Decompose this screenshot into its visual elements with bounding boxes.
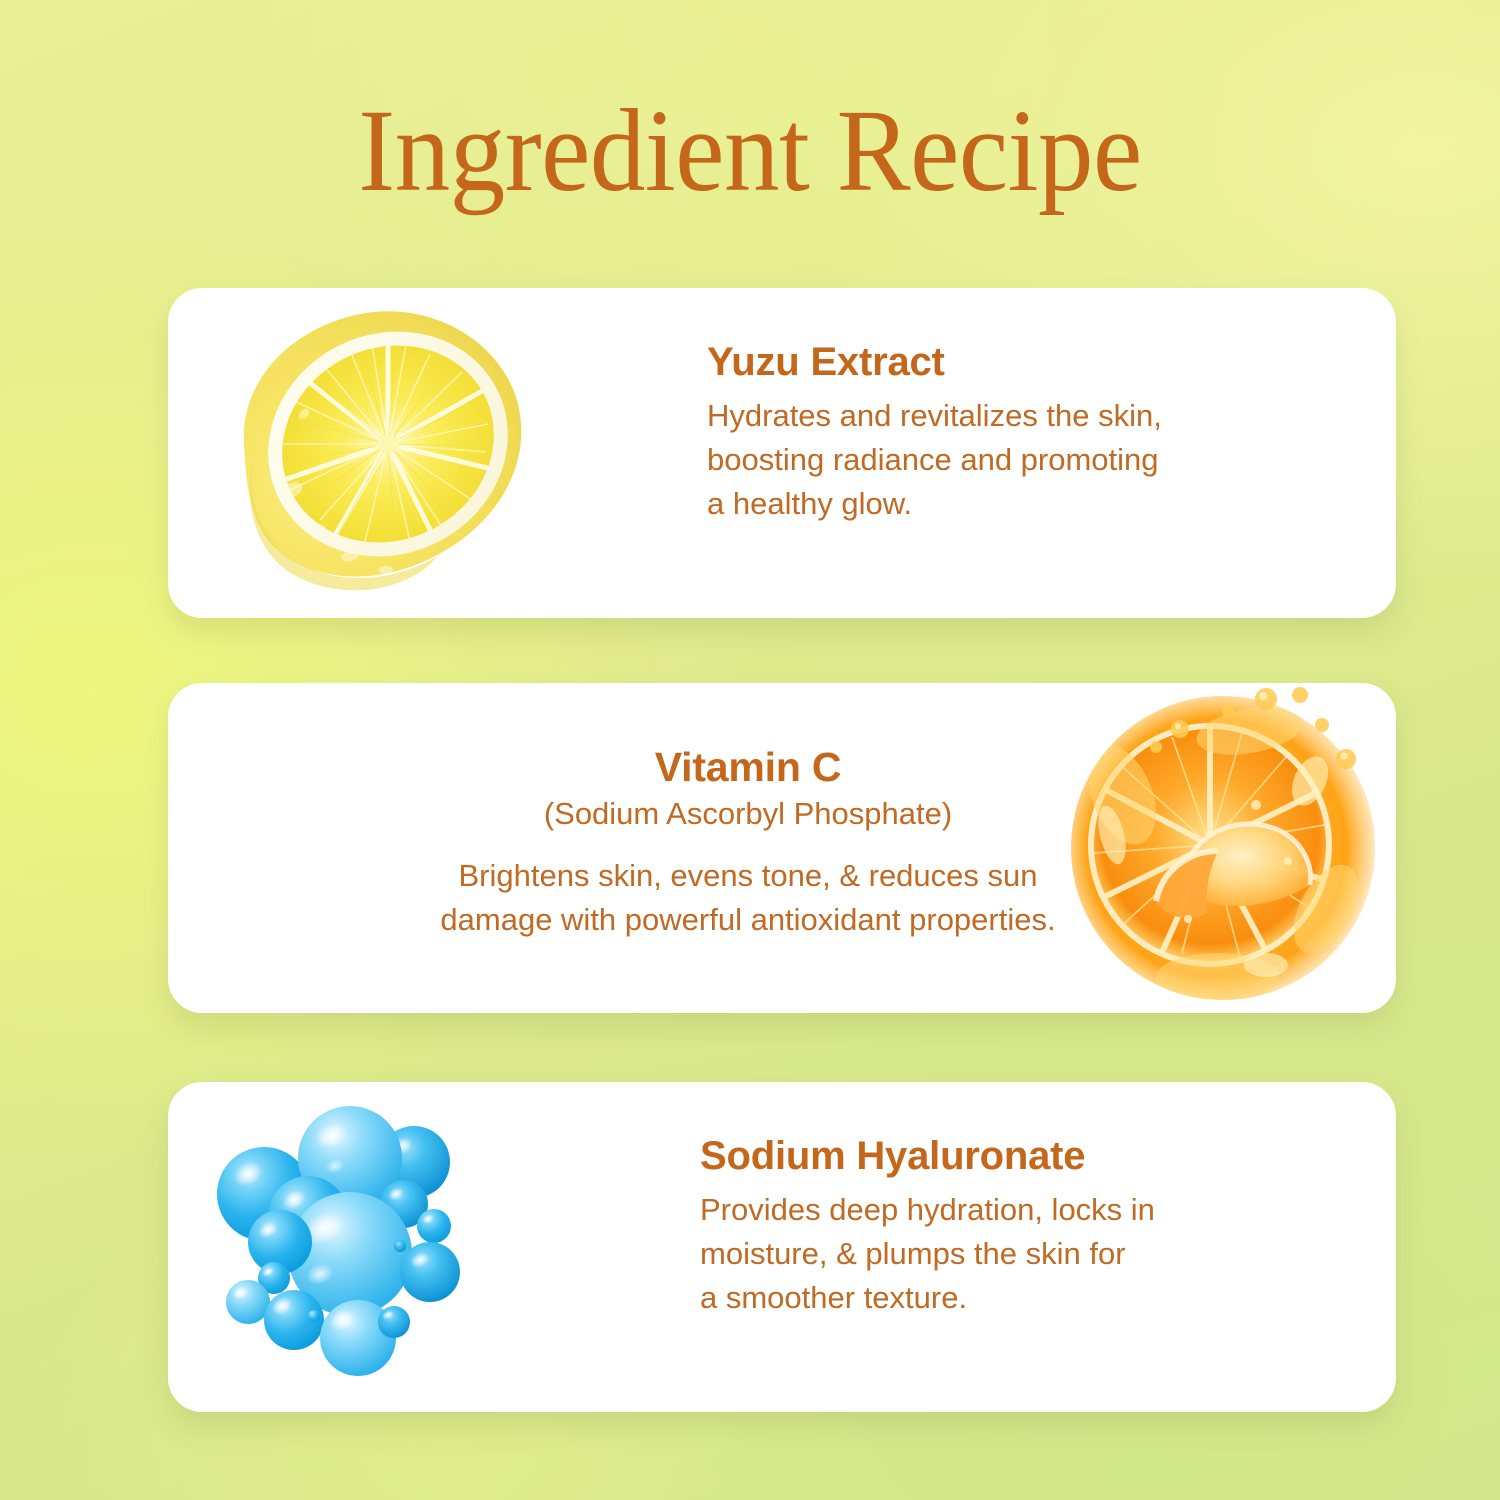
ingredient-card-vitaminc: Vitamin C (Sodium Ascorbyl Phosphate) Br… [168,683,1396,1013]
ingredient-card-yuzu: Yuzu Extract Hydrates and revitalizes th… [168,288,1396,618]
ingredient-name: Yuzu Extract [707,340,1307,385]
ingredient-text-yuzu: Yuzu Extract Hydrates and revitalizes th… [707,340,1307,526]
ingredient-description: Hydrates and revitalizes the skin, boost… [707,394,1307,526]
ingredient-text-sodium: Sodium Hyaluronate Provides deep hydrati… [700,1134,1300,1320]
ingredient-description: Provides deep hydration, locks in moistu… [700,1188,1300,1320]
ingredient-recipe-page: Ingredient Recipe [0,0,1500,1500]
blue-molecule-bubbles-image [198,1096,498,1396]
orange-slice-splash-image [1060,685,1390,1011]
ingredient-name: Sodium Hyaluronate [700,1134,1300,1179]
page-title: Ingredient Recipe [45,92,1455,210]
lemon-half-image [200,294,540,612]
ingredient-card-sodium: Sodium Hyaluronate Provides deep hydrati… [168,1082,1396,1412]
